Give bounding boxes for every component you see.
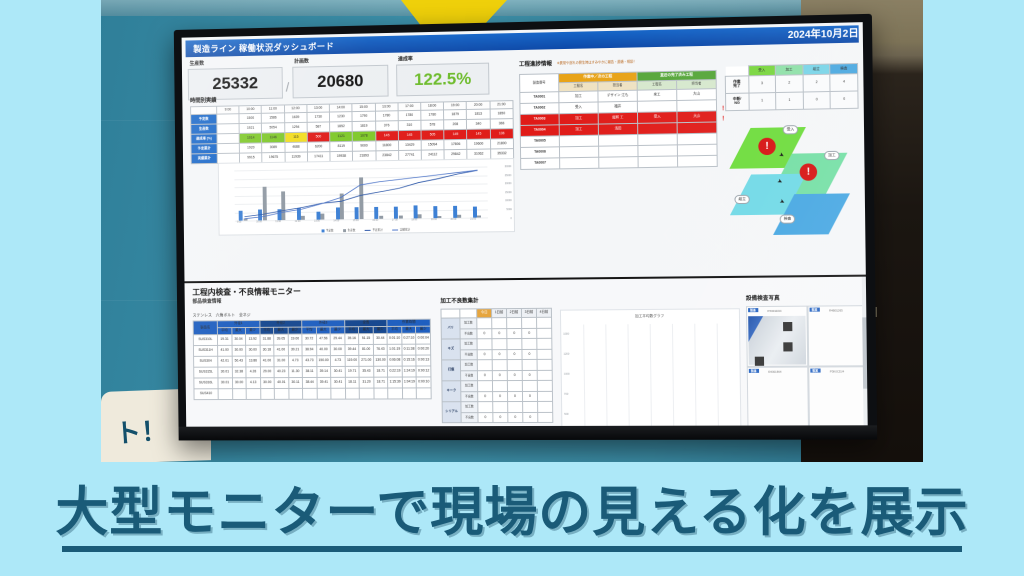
hourly-table-wrap: 9:0010:0011:0012:0013:0014:0015:0016:001… xyxy=(190,100,514,164)
zone-label-kakou: 加工 xyxy=(824,151,840,160)
chart-ytick: 15000 xyxy=(505,191,512,194)
defect-cell: 0 xyxy=(507,391,522,402)
chart-ytick: 0 xyxy=(511,217,512,220)
inspection-cell: 51.15 xyxy=(359,334,373,345)
defect-cell xyxy=(537,349,552,360)
inspection-cell: 43.73 xyxy=(302,356,316,367)
defect-cell xyxy=(523,401,538,412)
dashboard-date: 2024年10月2日 xyxy=(788,24,859,41)
hourly-cell: 19600 xyxy=(467,139,490,149)
process-cell xyxy=(638,156,678,168)
defect-cell xyxy=(537,391,552,402)
status-count-table-wrap: 受入加工組立検査 作業完了3224中断/NG1100 xyxy=(725,63,859,111)
defect-cell: 0 xyxy=(492,349,507,360)
chart-ytick: 25000 xyxy=(505,174,512,177)
photo-id: R4B01265 xyxy=(829,308,843,312)
inspection-cell: 30.41 xyxy=(331,366,345,377)
defect-cell: 0 xyxy=(478,412,493,423)
qr-code-icon xyxy=(783,322,792,331)
inspection-cell: 38.11 xyxy=(302,367,316,378)
dashboard-title: 製造ライン 稼働状況ダッシュボード xyxy=(193,40,334,55)
kpi-plan-value: 20680 xyxy=(317,71,364,92)
chart-xtick: 19:00 xyxy=(431,218,437,221)
process-row[interactable]: TA0007 xyxy=(521,155,718,169)
photo-image xyxy=(748,316,806,365)
defect-cell xyxy=(507,317,522,328)
defect-cell xyxy=(477,318,492,329)
qr-code-icon xyxy=(783,342,792,351)
kpi-label-production: 生産数 xyxy=(190,60,205,67)
inspection-cell: 29.44 xyxy=(330,334,344,345)
defect-cell xyxy=(492,318,507,329)
kpi-label-plan: 計画数 xyxy=(294,58,309,65)
hourly-cell: 17806 xyxy=(444,139,467,149)
defect-col-header: 今日 xyxy=(477,309,492,318)
dashboard-top-panel: 製造ライン 稼働状況ダッシュボード 2024年10月2日 生産数 25332 /… xyxy=(182,22,866,280)
floor-stand-text: ト！ xyxy=(114,410,168,451)
defect-subrow-label: 不良数 xyxy=(461,391,478,402)
inspection-cell: 31.00 xyxy=(274,356,288,367)
scrollbar-thumb[interactable] xyxy=(862,317,867,388)
hourly-row-label: 予定累計 xyxy=(191,144,217,154)
ceiling-strip xyxy=(101,0,923,16)
inspection-cell xyxy=(303,388,317,399)
hourly-cell: 1500 xyxy=(239,113,262,123)
caption-underline xyxy=(62,546,962,552)
hourly-cell: 4688 xyxy=(285,142,308,152)
photo-tag: 製番 xyxy=(749,369,759,373)
inspection-row-id: SUS316L xyxy=(194,378,218,389)
inspection-cell xyxy=(232,389,246,400)
process-alert-marker: ! xyxy=(722,116,724,122)
hourly-table: 9:0010:0011:0012:0013:0014:0015:0016:001… xyxy=(190,100,514,164)
process-cell xyxy=(559,135,598,147)
inspection-cell: 4.26 xyxy=(246,367,260,378)
status-row-label: 作業完了 xyxy=(725,76,748,94)
inspection-cell: 0:00:20 xyxy=(416,344,431,355)
defect-cell: 0 xyxy=(507,349,522,360)
photo-cell[interactable]: 製番R4301564 xyxy=(747,367,809,427)
hourly-cell: 1813 xyxy=(467,109,490,119)
defect-subrow-label: 加工数 xyxy=(461,381,478,392)
chart-xtick: 10:00 xyxy=(256,220,262,223)
defect-subrow-label: 加工数 xyxy=(460,318,477,329)
defect-group-label: キーク xyxy=(442,381,461,402)
process-section-label: 工程進捗情報 xyxy=(519,59,552,68)
inspection-cell: 30.00 xyxy=(246,345,260,356)
inspection-cell: 30.01 xyxy=(218,378,232,389)
chart-xtick: 21:00 xyxy=(470,218,476,221)
hourly-cell: 1790 xyxy=(352,111,375,121)
inspection-cell: 0:00:12 xyxy=(416,366,431,377)
process-note: ※異常や遅れの発生時はすみやかに報告・連絡・相談！ xyxy=(557,59,637,66)
process-cell xyxy=(638,134,678,146)
process-cell xyxy=(677,155,717,167)
inspection-row: SUS410 xyxy=(194,388,431,400)
process-cell xyxy=(677,144,717,156)
inspection-cell: 13.86 xyxy=(246,356,260,367)
hourly-cell: 1014 xyxy=(239,133,262,143)
kpi-production-value: 25332 xyxy=(212,73,258,94)
inspection-cell: 0:27:10 xyxy=(402,333,416,344)
status-col-1: 受入 xyxy=(748,65,775,76)
inspection-cell: 19.31 xyxy=(217,334,231,345)
hourly-cell: 578 xyxy=(421,120,444,130)
hourly-cell: 376 xyxy=(375,121,398,131)
inspection-cell xyxy=(345,388,359,399)
inspection-cell: 30.01 xyxy=(218,367,232,378)
hourly-cell: 500 xyxy=(307,132,330,142)
defect-cell xyxy=(507,338,522,349)
inspection-col-id: 製品名 xyxy=(193,321,217,335)
defect-cell xyxy=(477,339,492,350)
inspection-cell xyxy=(374,388,388,399)
caption-text: 大型モニターで現場の見える化を展示 xyxy=(0,470,1024,546)
process-cell: 来工 xyxy=(637,89,677,101)
process-cell: 大山 xyxy=(677,111,717,123)
photo-tag: 製番 xyxy=(810,369,820,373)
chart-ytick: 5000 xyxy=(506,208,511,211)
hourly-cell: 1879 xyxy=(444,109,467,119)
photos-title: 設備検査写真 xyxy=(746,294,780,302)
inspection-cell: 4.13 xyxy=(246,378,260,389)
inspection-cell xyxy=(417,388,432,399)
hourly-cell: 587 xyxy=(307,122,330,132)
inspection-cell xyxy=(289,388,303,399)
inspection-cell: 39.05 xyxy=(274,334,288,345)
inspection-cell: 31.20 xyxy=(359,377,373,388)
zone-label-kensa: 検査 xyxy=(780,214,796,223)
bottom-panel-title: 工程内検査・不良情報モニター xyxy=(192,286,301,298)
status-row-label: 中断/NG xyxy=(726,93,749,111)
process-row-id: TA0007 xyxy=(521,158,560,170)
status-value: 4 xyxy=(830,74,858,92)
defect-cell xyxy=(538,401,553,412)
chart-xtick: 20:00 xyxy=(451,218,457,221)
defect-cell: 0 xyxy=(493,391,508,402)
defect-row: シリアル加工数 xyxy=(442,401,553,412)
vertical-scrollbar[interactable] xyxy=(862,277,868,427)
bottom-panel-subtitle: 部品検査情報 xyxy=(192,298,221,305)
defect-subrow-label: 不良数 xyxy=(460,349,477,360)
kpi-achievement-value: 122.5% xyxy=(414,69,471,90)
inspection-cell: 4.73 xyxy=(331,356,345,367)
zone-label-uke: 受入 xyxy=(783,125,799,134)
avg-chart-gridline xyxy=(672,324,674,427)
process-cell xyxy=(560,157,599,169)
avg-chart-gridline xyxy=(694,324,696,427)
inspection-cell: 39.21 xyxy=(288,345,302,356)
defect-cell: 0 xyxy=(492,370,507,381)
process-cell: 浅田 xyxy=(598,123,637,135)
inspection-cell: 35.43 xyxy=(359,366,373,377)
hourly-cell: 1819 xyxy=(352,121,375,131)
hourly-cell: 8119 xyxy=(330,141,353,151)
process-cell: 加工 xyxy=(559,91,598,103)
chart-ytick: 30000 xyxy=(505,165,512,168)
avg-chart-ytick: 1000 xyxy=(564,373,570,376)
inspection-cell: 1:01:19 xyxy=(388,344,402,355)
photo-cell[interactable]: 製番P3K0CDJ4 xyxy=(808,366,867,426)
defect-table-title: 加工不良数集計 xyxy=(440,296,478,304)
inspection-cell: 18.71 xyxy=(374,377,388,388)
inspection-table-wrap: 製品名外径1外径2外径3全長作業時間 平均最大最少平均最大最少平均最大最少平均最… xyxy=(193,319,432,400)
defect-cell: 0 xyxy=(507,370,522,381)
kpi-row: 生産数 25332 / 計画数 20680 達成率 122.5% xyxy=(188,54,478,100)
photo-id: PX001D34 xyxy=(767,308,781,312)
material-label: ステンレス 六角ボルト 全ネジ xyxy=(193,312,251,318)
avg-chart-ytick: 1000 xyxy=(563,333,569,336)
photo-tag: 製番 xyxy=(810,308,820,312)
hourly-cell: 1921 xyxy=(239,123,262,133)
defect-cell xyxy=(478,381,493,392)
kpi-plan: 20680 xyxy=(292,65,388,99)
status-value: 2 xyxy=(775,75,803,93)
chart-legend-item: 実績累計 xyxy=(392,228,410,231)
process-cell xyxy=(599,157,638,169)
hourly-cell: 1780 xyxy=(375,111,398,121)
defect-subrow-label: 不良数 xyxy=(461,370,478,381)
process-table-wrap: 製造番号 作業中／次の工程 直近の完了済み工程 工程名 担当者 工程名 担当者 xyxy=(519,70,718,170)
hourly-cell: 11800 xyxy=(375,141,398,151)
avg-chart-gridline xyxy=(583,325,585,427)
defect-group-label: キズ xyxy=(441,339,460,360)
chart-ytick: 20000 xyxy=(505,182,512,185)
status-col-4: 検査 xyxy=(830,63,858,74)
inspection-cell: 19.00 xyxy=(288,334,302,345)
inspection-cell: 30.72 xyxy=(302,334,316,345)
chart-xtick: 18:00 xyxy=(411,218,417,221)
inspection-cell: 0:00:10 xyxy=(417,377,432,388)
inspection-cell: 29.00 xyxy=(260,367,274,378)
inspection-cell xyxy=(317,388,331,399)
defect-cell xyxy=(492,381,507,392)
process-row-id: TA0002 xyxy=(520,103,559,115)
chart-xtick: 12:00 xyxy=(295,220,301,223)
chart-lines xyxy=(234,166,488,220)
hourly-cell xyxy=(217,114,240,124)
kpi-separator: / xyxy=(286,80,290,95)
process-cell xyxy=(559,146,598,158)
process-row-id: TA0005 xyxy=(520,136,559,148)
hourly-cell: 1780 xyxy=(421,110,444,120)
process-cell: 福井 xyxy=(598,101,637,113)
avg-chart-ytick: 500 xyxy=(564,413,568,416)
chart-xtick: 14:00 xyxy=(333,219,339,222)
hourly-cell: 149 xyxy=(444,129,467,139)
inspection-row-id: SUS315L xyxy=(194,367,218,378)
inspection-cell: 41.00 xyxy=(274,345,288,356)
defect-subrow-label: 不良数 xyxy=(460,328,477,339)
photo-cell[interactable]: 製番PX001D34 xyxy=(746,306,808,367)
chart-xtick: 16:00 xyxy=(372,219,378,222)
kpi-achievement: 122.5% xyxy=(396,63,489,97)
process-row-id: TA0004 xyxy=(520,125,559,137)
inspection-cell: 13.92 xyxy=(246,334,260,345)
hourly-cell: 1230 xyxy=(330,112,353,122)
defect-cell: 0 xyxy=(522,370,537,381)
process-cell: 総和 工 xyxy=(598,112,637,124)
inspection-row-id: SUS311H xyxy=(193,345,217,356)
inspection-cell: 35.16 xyxy=(345,334,359,345)
hourly-cell: 1639 xyxy=(284,112,307,122)
defect-subrow-label: 不良数 xyxy=(461,412,478,423)
inspection-cell: 40.23 xyxy=(274,367,288,378)
defect-cell xyxy=(537,338,552,349)
inspection-cell: 41.00 xyxy=(260,356,274,367)
hourly-section-label: 時間別実績 xyxy=(190,96,217,104)
hourly-row-label: 実績累計 xyxy=(191,153,217,163)
hourly-cell: 115 xyxy=(284,132,307,142)
inspection-cell: 0:06:08 xyxy=(388,355,402,366)
chart-xtick: 11:00 xyxy=(275,220,281,223)
status-value: 0 xyxy=(830,91,858,109)
process-cell: 大山 xyxy=(677,89,717,101)
defect-subrow-label: 加工数 xyxy=(460,339,477,350)
inspection-cell: 38.94 xyxy=(302,345,316,356)
defect-cell: 0 xyxy=(477,349,492,360)
process-cell xyxy=(637,101,677,113)
hourly-row-label: 生産数 xyxy=(191,124,217,134)
defect-cell xyxy=(522,359,537,370)
defect-group-label: バリ xyxy=(441,318,460,339)
process-alert-marker: ! xyxy=(722,106,724,112)
inspection-cell: 30.44 xyxy=(373,333,387,344)
average-chart-grid: 1000120010007005002000:00:00:00:00:00:0 xyxy=(561,309,739,310)
hourly-cell: 6200 xyxy=(307,142,330,152)
hourly-cell: 9000 xyxy=(353,141,376,151)
kpi-label-achievement: 達成率 xyxy=(398,55,413,62)
hourly-cell: 505 xyxy=(421,130,444,140)
inspection-cell xyxy=(274,388,288,399)
hourly-cell: 1850 xyxy=(490,109,513,119)
defect-cell: 0 xyxy=(522,328,537,339)
inspection-cell: 18.71 xyxy=(374,366,388,377)
defect-cell: 0 xyxy=(523,412,538,423)
inspection-cell: 30.04 xyxy=(231,334,245,345)
hourly-cell xyxy=(217,143,240,153)
inspection-cell: 81.00 xyxy=(359,344,373,355)
chart-legend-item: 予定累計 xyxy=(365,229,383,232)
average-chart-title: 加工平均数グラフ xyxy=(561,313,739,319)
defect-cell xyxy=(477,360,492,371)
avg-chart-gridline xyxy=(605,324,607,426)
inspection-cell: 30.41 xyxy=(331,377,345,388)
equipment-photo-grid: 製番PX001D34製番R4B01265製番R4301564製番P3K0CDJ4 xyxy=(746,305,868,427)
defect-subrow-label: 加工数 xyxy=(461,402,478,413)
defect-subrow-label: 加工数 xyxy=(460,360,477,371)
inspection-cell: 76.43 xyxy=(373,344,387,355)
defect-cell xyxy=(522,317,537,328)
inspection-cell: 30.00 xyxy=(232,378,246,389)
defect-cell xyxy=(507,359,522,370)
defect-row: バリ加工数 xyxy=(441,317,552,328)
defect-cell xyxy=(537,370,552,381)
hourly-cell: 21800 xyxy=(490,139,513,149)
hourly-cell: 13429 xyxy=(398,140,421,150)
inspection-cell xyxy=(260,389,274,400)
avg-chart-gridline xyxy=(650,324,652,427)
status-count-table: 受入加工組立検査 作業完了3224中断/NG1100 xyxy=(725,63,859,111)
status-col-2: 加工 xyxy=(775,65,802,76)
inspection-cell: 30.18 xyxy=(260,345,274,356)
inspection-cell: 30.00 xyxy=(331,345,345,356)
status-value: 3 xyxy=(748,75,775,93)
process-col-id: 製造番号 xyxy=(520,74,559,93)
hourly-cell: 340 xyxy=(467,119,490,129)
inspection-cell: 47.56 xyxy=(316,334,330,345)
hourly-chart: 時間別生産実績 300002500020000150001000050000 予… xyxy=(218,158,515,236)
defect-cell xyxy=(492,339,507,350)
dashboard: 製造ライン 稼働状況ダッシュボード 2024年10月2日 生産数 25332 /… xyxy=(182,22,868,427)
process-row-id: TA0001 xyxy=(520,92,559,104)
hourly-cell: 1780 xyxy=(398,110,421,120)
avg-chart-gridline xyxy=(717,324,719,427)
inspection-cell xyxy=(331,388,345,399)
hourly-cell: 366 xyxy=(490,119,513,129)
inspection-cell: 0:00:04 xyxy=(416,333,431,344)
inspection-cell xyxy=(388,388,402,399)
defect-table: 今日1日前2日前3日前4日前 バリ加工数不良数0000キズ加工数不良数0000打… xyxy=(440,308,553,423)
defect-cell xyxy=(478,402,493,413)
hourly-cell: 5054 xyxy=(262,123,285,133)
photo-id: P3K0CDJ4 xyxy=(830,369,844,373)
hourly-cell: 1078 xyxy=(352,131,375,141)
defect-table-wrap: 今日1日前2日前3日前4日前 バリ加工数不良数0000キズ加工数不良数0000打… xyxy=(440,308,553,423)
process-cell xyxy=(677,133,717,145)
defect-cell xyxy=(508,402,523,413)
defect-col-header: 4日前 xyxy=(536,308,551,317)
process-row-id: TA0006 xyxy=(520,147,559,159)
hourly-cell: 145 xyxy=(467,129,490,139)
defect-cell xyxy=(493,402,508,413)
inspection-cell: 0:01:10 xyxy=(387,333,401,344)
hourly-cell: 1586 xyxy=(262,113,285,123)
booth-photo: ト！ 製造ライン 稼働状況ダッシュボード 2024年10月2日 生産数 xyxy=(101,0,923,462)
defect-cell: 0 xyxy=(522,349,537,360)
process-cell: 受入 xyxy=(637,112,677,124)
inspection-cell: 11.30 xyxy=(288,367,302,378)
inspection-cell: 30.00 xyxy=(232,345,246,356)
defect-cell: 0 xyxy=(508,412,523,423)
inspection-cell: 40.00 xyxy=(316,345,330,356)
inspection-table: 製品名外径1外径2外径3全長作業時間 平均最大最少平均最大最少平均最大最少平均最… xyxy=(193,319,432,400)
hourly-cell: 1121 xyxy=(330,131,353,141)
defect-cell xyxy=(522,338,537,349)
chart-xtick: 9:00 xyxy=(237,221,242,224)
photo-cell[interactable]: 製番R4B01265 xyxy=(807,305,867,366)
process-cell xyxy=(599,146,638,158)
hourly-cell: 3089 xyxy=(262,143,285,153)
defect-row: キズ加工数 xyxy=(441,338,552,349)
defect-row: キーク加工数 xyxy=(442,380,553,391)
inspection-cell: 1:24:19 xyxy=(402,366,416,377)
hourly-chart-legend: 予定数生産数予定累計実績累計 xyxy=(220,226,514,234)
process-cell xyxy=(598,134,637,146)
hourly-row-label: 予定数 xyxy=(191,114,217,124)
inspection-cell: 38.44 xyxy=(303,377,317,388)
process-cell: 加工 xyxy=(559,113,598,125)
defect-col-header: 1日前 xyxy=(492,309,507,318)
inspection-cell: 130.00 xyxy=(373,355,387,366)
inspection-cell: 119.00 xyxy=(345,355,359,366)
inspection-cell xyxy=(360,388,374,399)
inspection-cell: 1:15:39 xyxy=(388,377,402,388)
hourly-cell: 1920 xyxy=(240,143,263,153)
defect-row: 打痕加工数 xyxy=(442,359,553,370)
inspection-cell xyxy=(246,389,260,400)
dashboard-bottom-panel: 工程内検査・不良情報モニター 部品検査情報 ステンレス 六角ボルト 全ネジ 製品… xyxy=(184,275,867,427)
